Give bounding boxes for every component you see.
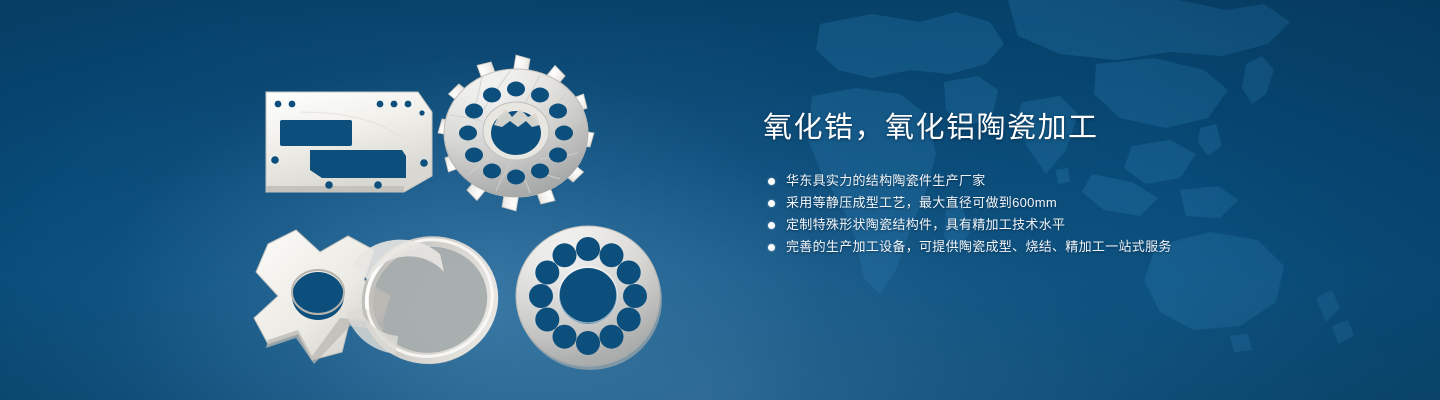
page-title: 氧化锆，氧化铝陶瓷加工 (763, 108, 1383, 148)
feature-text: 华东具实力的结构陶瓷件生产厂家 (786, 170, 986, 192)
ceramic-plate-shape (266, 92, 432, 192)
bullet-dot-icon (768, 200, 775, 207)
bullet-dot-icon (768, 244, 775, 251)
feature-text: 采用等静压成型工艺，最大直径可做到600mm (786, 192, 1057, 214)
bullet-dot-icon (768, 222, 775, 229)
list-item: 定制特殊形状陶瓷结构件，具有精加工技术水平 (763, 214, 1383, 236)
list-item: 完善的生产加工设备，可提供陶瓷成型、烧结、精加工一站式服务 (763, 236, 1383, 258)
banner-text-block: 氧化锆，氧化铝陶瓷加工 华东具实力的结构陶瓷件生产厂家 采用等静压成型工艺，最大… (763, 108, 1383, 258)
hero-banner: 氧化锆，氧化铝陶瓷加工 华东具实力的结构陶瓷件生产厂家 采用等静压成型工艺，最大… (0, 0, 1440, 400)
feature-list: 华东具实力的结构陶瓷件生产厂家 采用等静压成型工艺，最大直径可做到600mm 定… (763, 170, 1383, 258)
list-item: 华东具实力的结构陶瓷件生产厂家 (763, 170, 1383, 192)
feature-text: 定制特殊形状陶瓷结构件，具有精加工技术水平 (786, 214, 1065, 236)
list-item: 采用等静压成型工艺，最大直径可做到600mm (763, 192, 1383, 214)
feature-text: 完善的生产加工设备，可提供陶瓷成型、烧结、精加工一站式服务 (786, 236, 1172, 258)
bullet-dot-icon (768, 178, 775, 185)
ceramic-perforated-disc-shape (516, 226, 662, 370)
ceramic-products-image (0, 0, 720, 400)
ceramic-impeller-shape (438, 55, 594, 211)
